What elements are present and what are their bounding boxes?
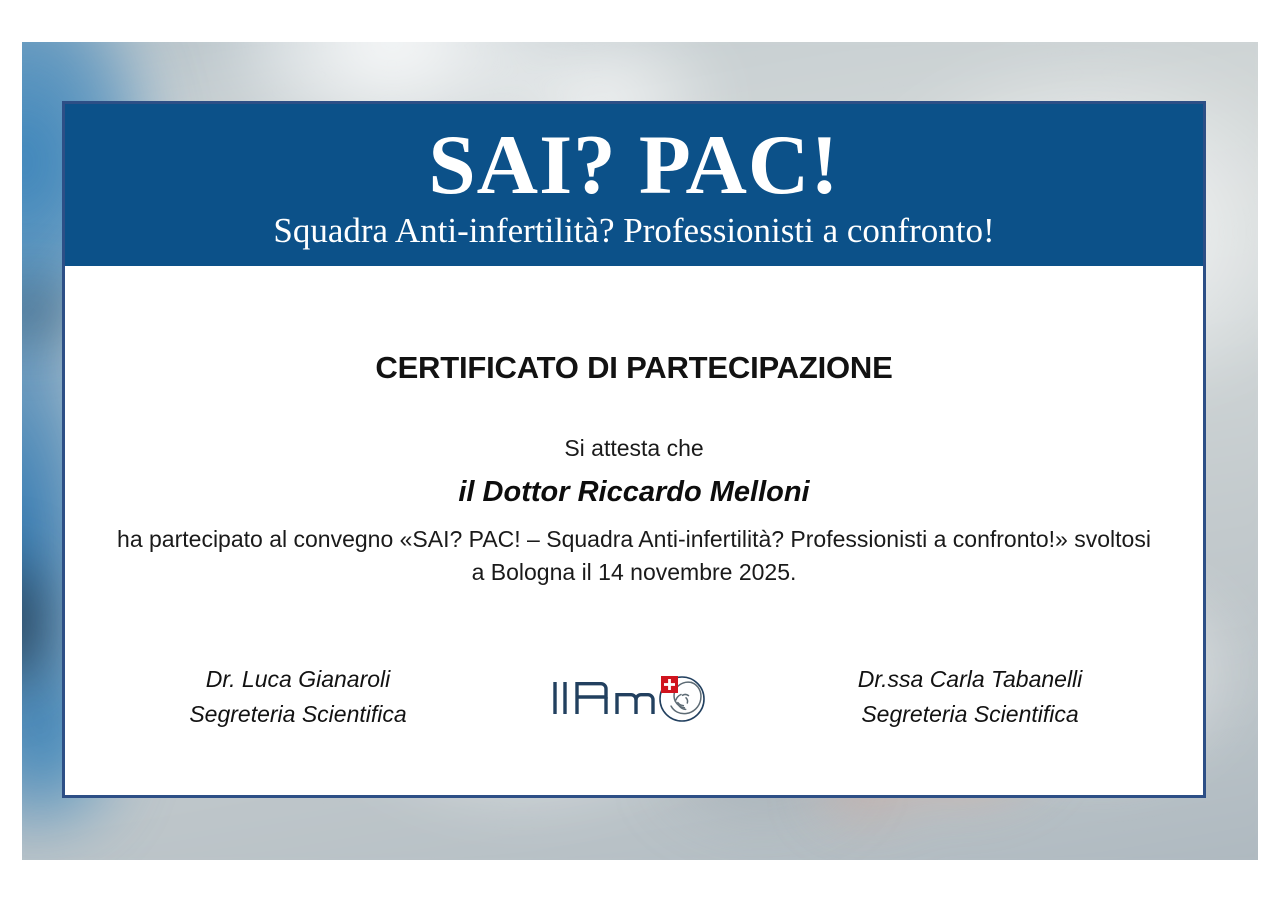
iirm-logo — [539, 666, 729, 728]
event-header-band: SAI? PAC! Squadra Anti-infertilità? Prof… — [65, 104, 1203, 266]
recipient-name: il Dottor Riccardo Melloni — [111, 471, 1157, 515]
red-cross-badge — [661, 676, 678, 693]
certificate-heading: CERTIFICATO DI PARTECIPAZIONE — [111, 350, 1157, 386]
event-subtitle: Squadra Anti-infertilità? Professionisti… — [85, 213, 1183, 250]
event-title: SAI? PAC! — [85, 124, 1183, 207]
signature-right-role: Segreteria Scientifica — [805, 697, 1135, 733]
signature-right-name: Dr.ssa Carla Tabanelli — [805, 662, 1135, 698]
signature-row: Dr. Luca Gianaroli Segreteria Scientific… — [111, 662, 1157, 733]
attestation-lead: Si attesta che — [111, 432, 1157, 465]
signature-left-name: Dr. Luca Gianaroli — [133, 662, 463, 698]
attestation-statement: ha partecipato al convegno «SAI? PAC! – … — [111, 523, 1157, 588]
certificate-card: SAI? PAC! Squadra Anti-infertilità? Prof… — [62, 101, 1206, 798]
signature-right: Dr.ssa Carla Tabanelli Segreteria Scient… — [805, 662, 1135, 733]
signature-left-role: Segreteria Scientifica — [133, 697, 463, 733]
attestation-block: Si attesta che il Dottor Riccardo Mellon… — [111, 432, 1157, 588]
signature-left: Dr. Luca Gianaroli Segreteria Scientific… — [133, 662, 463, 733]
certificate-body: CERTIFICATO DI PARTECIPAZIONE Si attesta… — [65, 266, 1203, 795]
certificate-page: SAI? PAC! Squadra Anti-infertilità? Prof… — [0, 0, 1280, 905]
